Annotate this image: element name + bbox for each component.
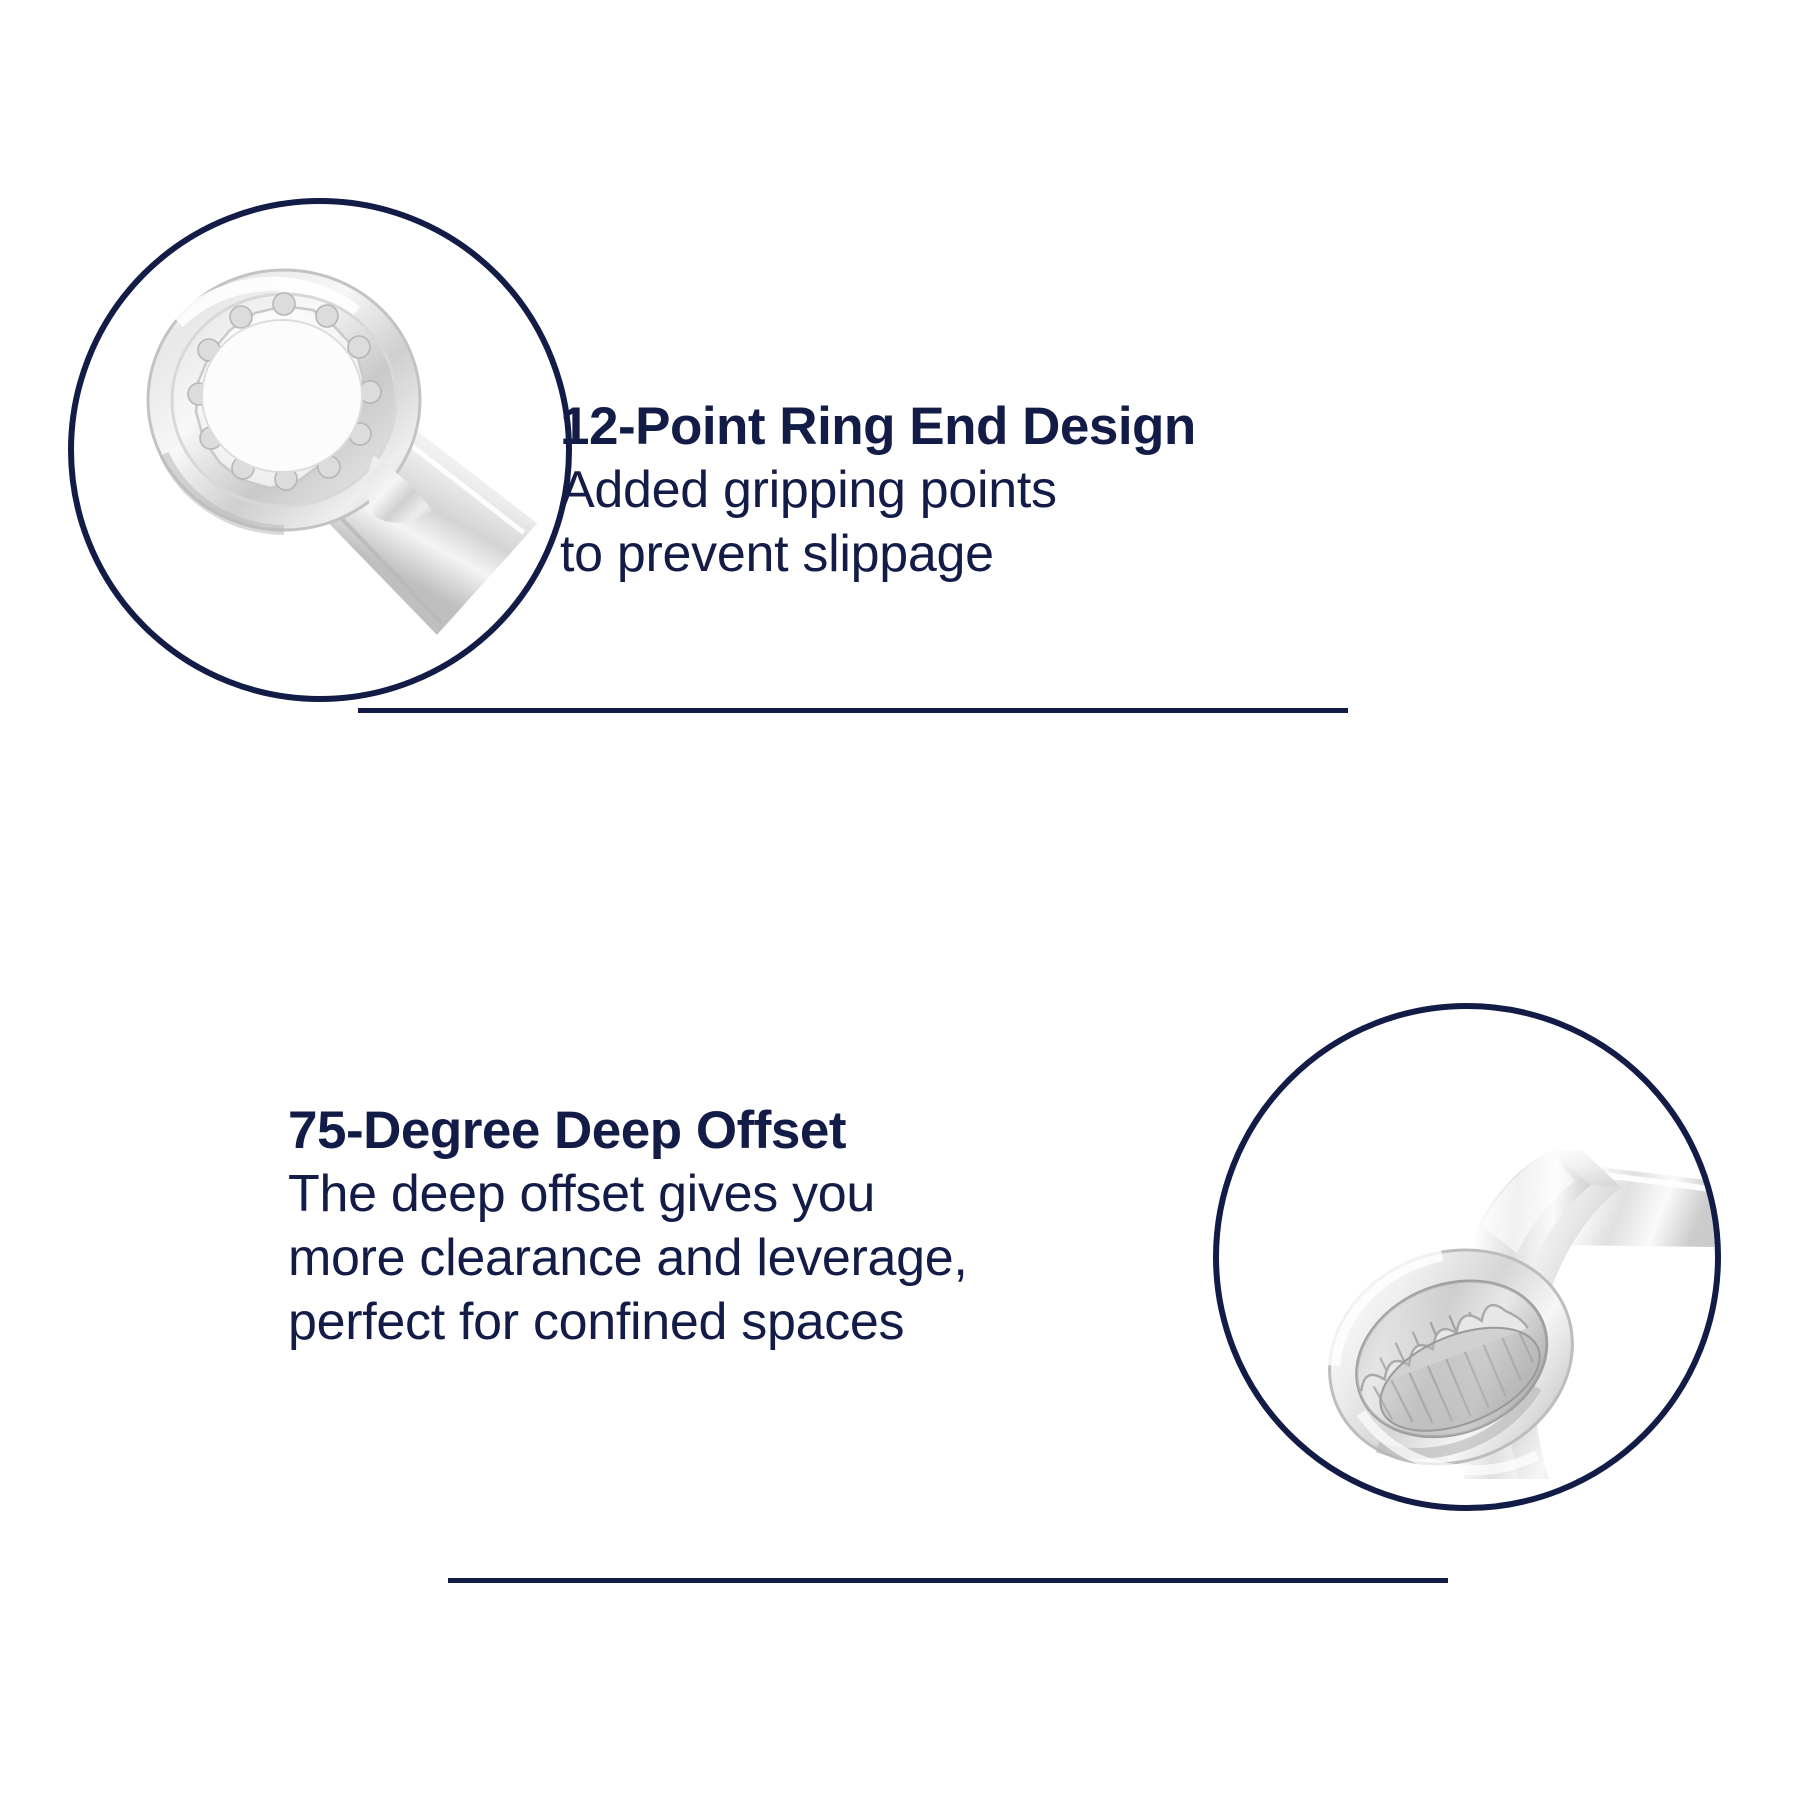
- wrench-ring-end-photo: [74, 204, 566, 696]
- feature-photo-circle-twelve-point-ring-end: [68, 198, 572, 702]
- feature-divider-rule: [358, 708, 1348, 713]
- feature-description-line: more clearance and leverage,: [288, 1226, 1108, 1290]
- feature-title: 75-Degree Deep Offset: [288, 1100, 1108, 1162]
- feature-photo-circle-seventy-five-degree-deep-offset: [1213, 1003, 1721, 1511]
- feature-title: 12-Point Ring End Design: [560, 396, 1260, 458]
- feature-description: Added gripping points to prevent slippag…: [560, 458, 1260, 586]
- infographic-canvas: 12-Point Ring End Design Added gripping …: [0, 0, 1800, 1800]
- wrench-deep-offset-photo: [1219, 1009, 1715, 1505]
- feature-description: The deep offset gives you more clearance…: [288, 1162, 1108, 1354]
- feature-description-line: Added gripping points: [560, 458, 1260, 522]
- feature-description-line: to prevent slippage: [560, 522, 1260, 586]
- feature-description-line: The deep offset gives you: [288, 1162, 1108, 1226]
- feature-description-line: perfect for confined spaces: [288, 1290, 1108, 1354]
- feature-divider-rule: [448, 1578, 1448, 1583]
- feature-text-seventy-five-degree-deep-offset: 75-Degree Deep Offset The deep offset gi…: [288, 1100, 1108, 1354]
- feature-text-twelve-point-ring-end: 12-Point Ring End Design Added gripping …: [560, 396, 1260, 586]
